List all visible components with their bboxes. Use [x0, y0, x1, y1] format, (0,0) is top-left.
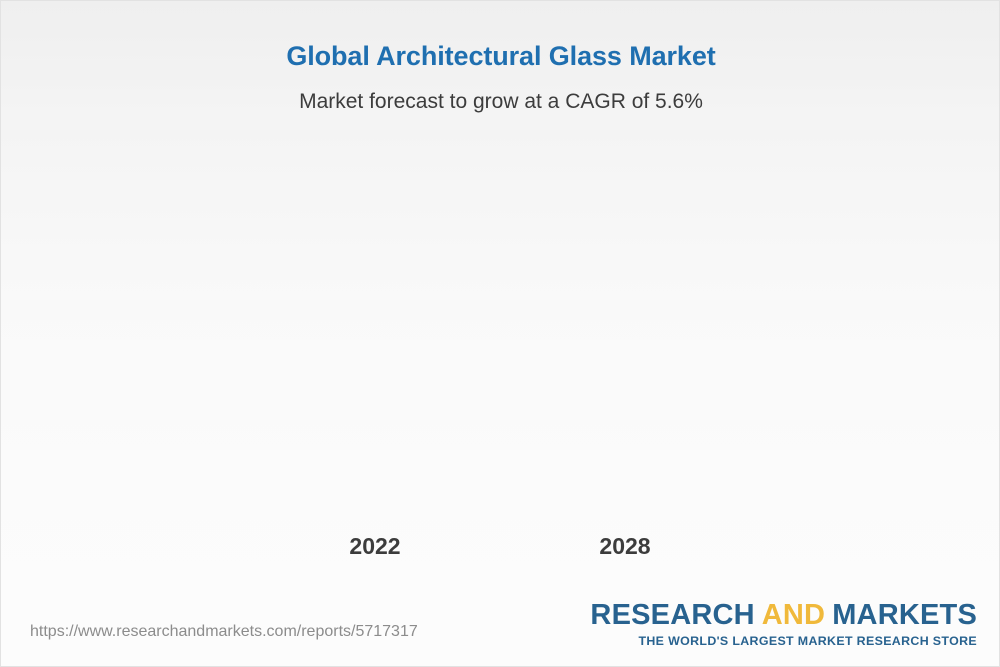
source-url-link[interactable]: https://www.researchandmarkets.com/repor…	[30, 623, 418, 641]
logo-wordmark: RESEARCHANDMARKETS	[590, 601, 977, 630]
logo-tagline: THE WORLD'S LARGEST MARKET RESEARCH STOR…	[590, 635, 977, 647]
chart-plot-area: 52,608.27 million	[1, 1, 1000, 601]
bar-category-label-2028: 2028	[475, 533, 775, 560]
infographic-canvas: Global Architectural Glass Market Market…	[0, 0, 1000, 667]
logo-word-and: AND	[762, 599, 825, 631]
logo-word-markets: MARKETS	[832, 599, 977, 631]
logo-word-research: RESEARCH	[590, 599, 754, 631]
research-and-markets-logo[interactable]: RESEARCHANDMARKETS THE WORLD'S LARGEST M…	[590, 601, 977, 647]
